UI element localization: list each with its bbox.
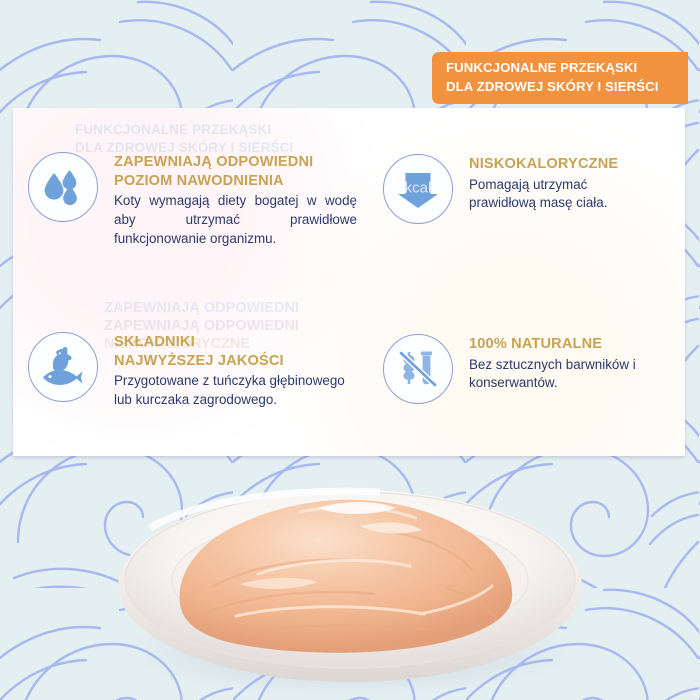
banner-line-1: FUNKCJONALNE PRZEKĄSKI xyxy=(446,59,678,78)
feature-low-calorie-title: NISKOKALORYCZNE xyxy=(469,155,618,174)
feature-low-calorie: kcal NISKOKALORYCZNE Pomagają utrzymać p… xyxy=(383,152,673,224)
feature-natural-text: 100% NATURALNE Bez sztucznych barwników … xyxy=(469,332,636,393)
feature-quality-ingredients-title: SKŁADNIKI NAJWYŻSZEJ JAKOŚCI xyxy=(114,333,345,370)
feature-natural-body: Bez sztucznych barwników i konserwantów. xyxy=(469,356,636,394)
feature-low-calorie-body: Pomagają utrzymać prawidłową masę ciała. xyxy=(469,176,618,214)
feature-hydration: ZAPEWNIAJĄ ODPOWIEDNI POZIOM NAWODNIENIA… xyxy=(28,150,358,248)
feature-low-calorie-text: NISKOKALORYCZNE Pomagają utrzymać prawid… xyxy=(469,152,618,213)
product-infographic: FUNKCJONALNE PRZEKĄSKI DLA ZDROWEJ SKÓRY… xyxy=(0,0,700,700)
functional-snacks-banner: FUNKCJONALNE PRZEKĄSKI DLA ZDROWEJ SKÓRY… xyxy=(432,52,688,104)
feature-quality-ingredients-body: Przygotowane z tuńczyka głębinowego lub … xyxy=(114,372,345,410)
water-drops-icon xyxy=(28,152,98,222)
chicken-and-fish-icon xyxy=(28,332,98,402)
banner-line-2: DLA ZDROWEJ SKÓRY I SIERŚCI xyxy=(446,78,678,97)
feature-natural-title: 100% NATURALNE xyxy=(469,335,636,354)
feature-quality-ingredients: SKŁADNIKI NAJWYŻSZEJ JAKOŚCI Przygotowan… xyxy=(28,330,378,410)
feature-hydration-title: ZAPEWNIAJĄ ODPOWIEDNI POZIOM NAWODNIENIA xyxy=(114,153,357,190)
cat-food-pate-in-white-dish xyxy=(0,456,700,700)
kcal-down-arrow-icon: kcal xyxy=(383,154,453,224)
svg-text:kcal: kcal xyxy=(405,180,432,197)
no-grain-no-additives-icon xyxy=(383,334,453,404)
feature-hydration-body: Koty wymagają diety bogatej w wodę aby u… xyxy=(114,192,357,248)
feature-quality-ingredients-text: SKŁADNIKI NAJWYŻSZEJ JAKOŚCI Przygotowan… xyxy=(114,330,345,410)
feature-hydration-text: ZAPEWNIAJĄ ODPOWIEDNI POZIOM NAWODNIENIA… xyxy=(114,150,357,248)
feature-natural: 100% NATURALNE Bez sztucznych barwników … xyxy=(383,332,673,404)
